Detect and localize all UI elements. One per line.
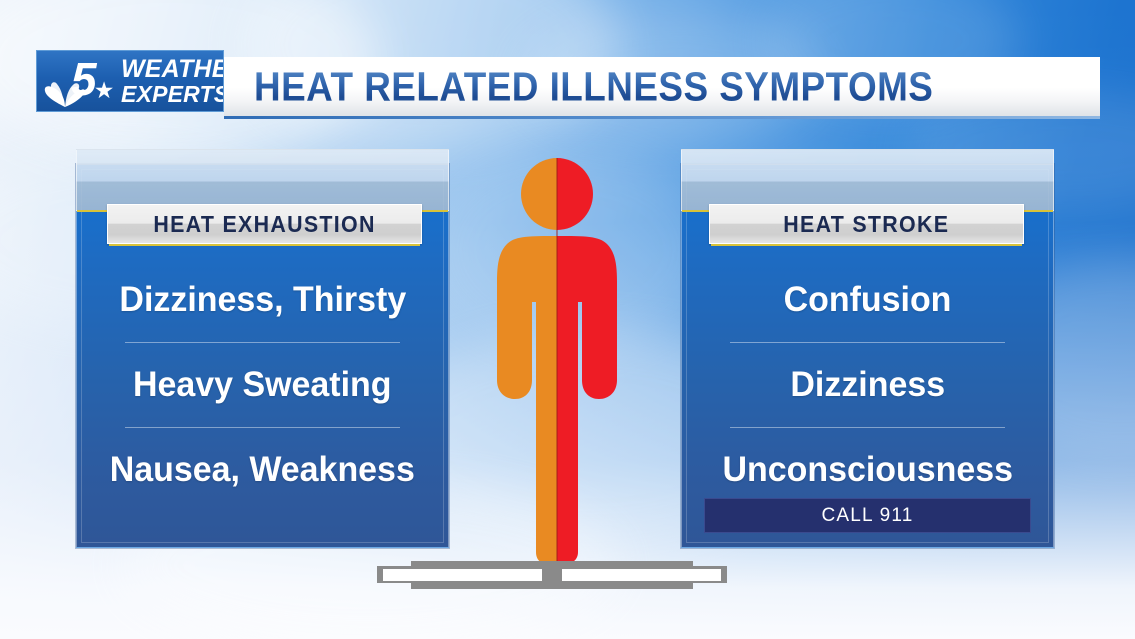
brand-line-experts: EXPERTS [121,83,224,106]
list-item: Heavy Sweating [97,342,428,427]
call-911-label: CALL 911 [822,505,914,527]
panel-header-glass [681,149,1054,211]
panel-heat-exhaustion: HEAT EXHAUSTION Dizziness, Thirsty Heavy… [76,164,449,548]
panel-header-glass [76,149,449,211]
page-title: HEAT RELATED ILLNESS SYMPTOMS [254,63,933,110]
panel-title-label: HEAT EXHAUSTION [153,211,375,238]
station-logo: 5 ★ WEATHER EXPERTS [36,50,224,112]
panel-title-heat-exhaustion: HEAT EXHAUSTION [107,204,422,244]
symptom-list-heat-exhaustion: Dizziness, Thirsty Heavy Sweating Nausea… [97,257,428,512]
symptom-list-heat-stroke: Confusion Dizziness Unconsciousness [702,257,1033,512]
title-plate: HEAT RELATED ILLNESS SYMPTOMS [224,57,1100,116]
list-item: Dizziness [702,342,1033,427]
platform-icon [367,561,737,589]
symptom-label: Heavy Sweating [133,365,392,405]
list-item: Dizziness, Thirsty [97,257,428,342]
list-item: Confusion [702,257,1033,342]
call-911-banner: CALL 911 [704,498,1031,533]
weather-graphic: HEAT RELATED ILLNESS SYMPTOMS 5 ★ WEATHE… [0,0,1135,639]
symptom-label: Nausea, Weakness [110,450,415,490]
header: HEAT RELATED ILLNESS SYMPTOMS 5 ★ WEATHE… [36,57,1100,116]
symptom-label: Dizziness [790,365,945,405]
panel-heat-stroke: HEAT STROKE Confusion Dizziness Unconsci… [681,164,1054,548]
panel-title-heat-stroke: HEAT STROKE [709,204,1024,244]
symptom-label: Dizziness, Thirsty [119,280,406,320]
star-icon: ★ [91,77,117,103]
list-item: Nausea, Weakness [97,427,428,512]
brand-line-weather: WEATHER [121,57,224,82]
panel-title-label: HEAT STROKE [783,211,949,238]
brand-wordmark: WEATHER EXPERTS [121,57,224,106]
symptom-label: Unconsciousness [722,450,1013,490]
symptom-label: Confusion [784,280,952,320]
person-silhouette-icon [479,152,635,564]
